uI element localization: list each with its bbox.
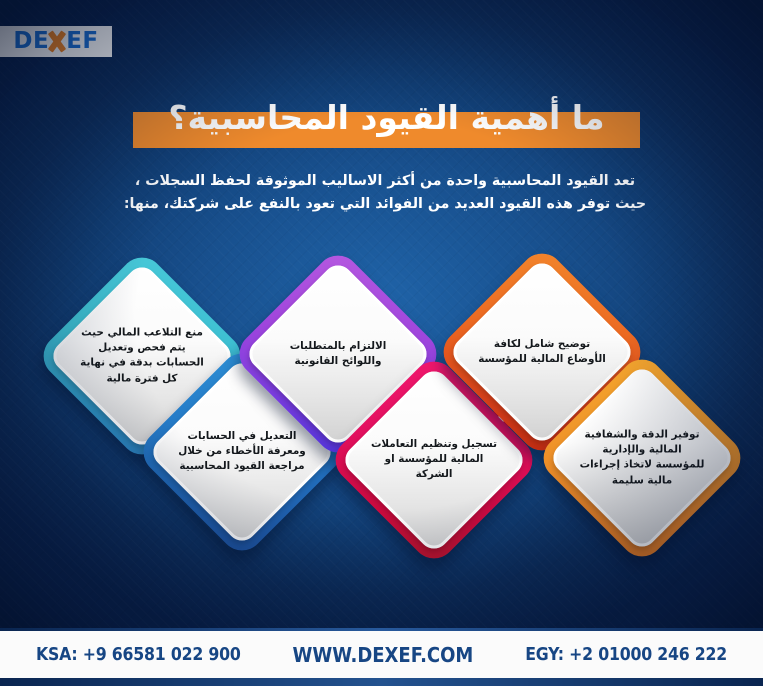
page-title: ما أهمية القيود المحاسبية؟ [133, 92, 640, 144]
infographic-canvas: DE EF ما أهمية القيود المحاسبية؟ تعد الق… [0, 0, 763, 686]
footer-bottom-strip [0, 678, 763, 686]
subtitle-line-2: حيث توفر هذه القيود العديد من الفوائد ال… [120, 193, 650, 216]
card-label: تسجيل وتنظيم التعاملات المالية للمؤسسة ا… [370, 437, 498, 483]
footer-bar: KSA: +9 66581 022 900 WWW.DEXEF.COM EGY:… [0, 631, 763, 678]
card-label: توفير الدقة والشفافية المالية والإدارية … [578, 428, 706, 489]
dexef-logo[interactable]: DE EF [0, 26, 112, 57]
logo-prefix: DE [13, 30, 49, 53]
x-mark-icon [48, 31, 67, 52]
logo-suffix: EF [66, 30, 98, 53]
page-subtitle: تعد القيود المحاسبية واحدة من أكثر الاسا… [120, 170, 650, 216]
card-label: منع التلاعب المالي حيث يتم فحص وتعديل ال… [78, 326, 206, 387]
footer-phone-ksa[interactable]: KSA: +9 66581 022 900 [36, 645, 241, 665]
subtitle-line-1: تعد القيود المحاسبية واحدة من أكثر الاسا… [120, 170, 650, 193]
card-label: الالتزام بالمتطلبات واللوائح القانونية [274, 339, 402, 369]
logo-wordmark: DE EF [13, 30, 98, 53]
card-label: توضيح شامل لكافة الأوضاع المالية للمؤسسة [478, 337, 606, 367]
footer-phone-egy[interactable]: EGY: +2 01000 246 222 [525, 645, 727, 665]
footer-website[interactable]: WWW.DEXEF.COM [293, 643, 474, 667]
card-label: التعديل في الحسابات ومعرفة الأخطاء من خل… [178, 429, 306, 475]
